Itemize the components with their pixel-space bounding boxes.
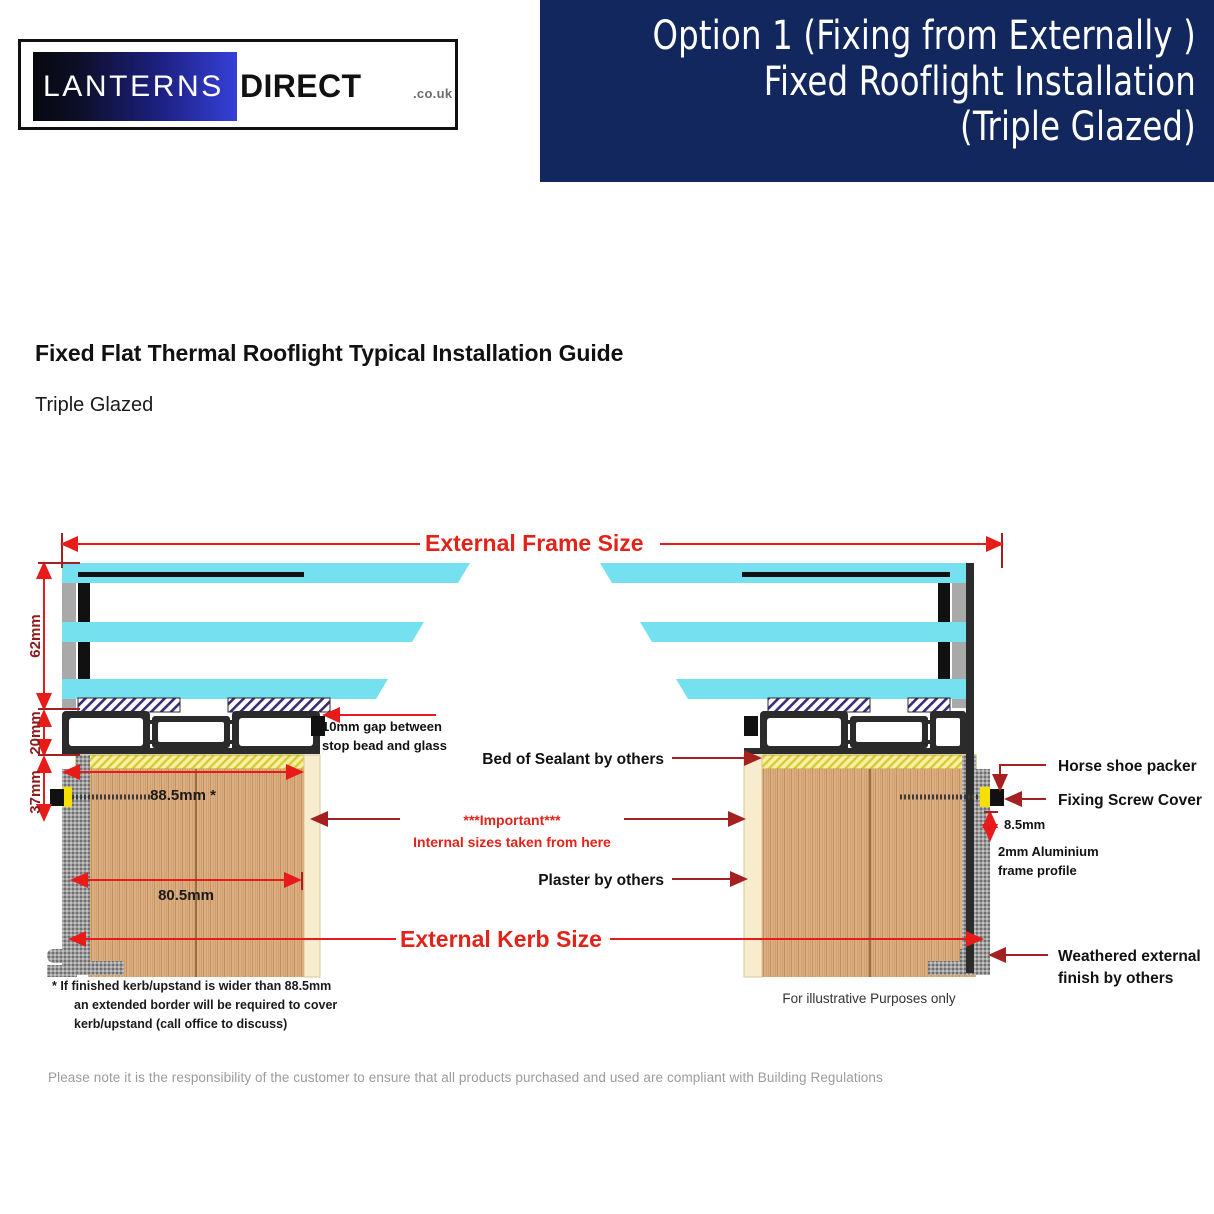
kerb-footnote-line-2: an extended border will be required to c…: [74, 998, 337, 1012]
label-bed-of-sealant: Bed of Sealant by others: [482, 751, 664, 768]
frame-outer-skin-right: [966, 563, 974, 973]
label-stop-bead-gap-line2: stop bead and glass: [322, 738, 447, 753]
label-stop-bead-gap-line1: 10mm gap between: [322, 719, 442, 734]
label-dim-20mm: 20mm: [27, 711, 44, 754]
horse-shoe-packer-right: [980, 787, 990, 807]
label-alu-profile-line2: frame profile: [998, 863, 1077, 878]
spacer-bar-left-2: [228, 698, 330, 712]
callout-bed-of-sealant: Bed of Sealant by others: [482, 751, 760, 768]
dimension-37mm: 37mm: [27, 757, 44, 820]
dimension-8-5mm: 8.5mm: [984, 812, 1045, 840]
glass-pane-middle-r: [640, 622, 966, 642]
kerb-footnote: * If finished kerb/upstand is wider than…: [52, 979, 337, 1031]
render-corner-right: [960, 949, 990, 963]
spacer-bar-right-1: [768, 698, 870, 712]
render-corner-left: [47, 949, 77, 963]
kerb-footnote-line-3: kerb/upstand (call office to discuss): [74, 1017, 287, 1031]
label-dim-88-5mm: 88.5mm *: [150, 787, 216, 804]
plaster-layer-left: [304, 755, 320, 977]
left-section-assembly: [47, 563, 470, 977]
glass-unit-left: [62, 563, 470, 699]
timber-kerb-right: [762, 769, 976, 977]
spacer-bar-right-2: [908, 698, 950, 712]
label-weathered-finish-line1: Weathered external: [1058, 948, 1201, 965]
label-horse-shoe-packer: Horse shoe packer: [1058, 758, 1197, 775]
kerb-footnote-line-1: * If finished kerb/upstand is wider than…: [52, 979, 331, 993]
glass-top-bar-r: [742, 572, 950, 577]
plaster-layer-right: [744, 755, 762, 977]
glass-pane-inner-r: [676, 679, 966, 699]
glass-unit-right: [600, 563, 966, 699]
callout-stop-bead-gap: 10mm gap between stop bead and glass: [322, 715, 447, 753]
glass-top-bar: [78, 572, 304, 577]
label-external-kerb-size: External Kerb Size: [400, 926, 602, 952]
aluminium-frame-profile-right: [744, 711, 966, 754]
label-dim-62mm: 62mm: [27, 614, 44, 657]
callout-aluminium-frame-profile: 2mm Aluminium frame profile: [998, 844, 1099, 878]
callout-weathered-external-finish: Weathered external finish by others: [990, 948, 1201, 987]
glass-pane-middle: [62, 622, 424, 642]
render-return-left: [47, 965, 77, 977]
label-dim-37mm: 37mm: [27, 770, 44, 813]
dimension-external-frame-size: External Frame Size: [62, 530, 1002, 568]
important-internal-sizes-note: ***Important*** Internal sizes taken fro…: [312, 812, 744, 850]
label-external-frame-size: External Frame Size: [425, 530, 644, 556]
label-alu-profile-line1: 2mm Aluminium: [998, 844, 1099, 859]
label-important-line1: ***Important***: [463, 812, 561, 828]
illustrative-purposes-note: For illustrative Purposes only: [782, 991, 956, 1006]
label-dim-8-5mm: 8.5mm: [1004, 817, 1045, 832]
stop-bead-gap-block-r: [744, 716, 758, 736]
aluminium-frame-profile-left: [62, 711, 320, 754]
spacer-bar-left-1: [78, 698, 180, 712]
callout-plaster: Plaster by others: [538, 872, 746, 889]
fixing-screw-cover-left: [50, 789, 64, 806]
label-plaster: Plaster by others: [538, 872, 664, 889]
label-weathered-finish-line2: finish by others: [1058, 970, 1173, 987]
callout-horse-shoe-packer: Horse shoe packer: [1000, 758, 1197, 790]
bed-of-sealant-right: [762, 755, 976, 769]
bed-of-sealant-left: [76, 755, 318, 769]
label-dim-80-5mm: 80.5mm: [158, 887, 214, 904]
callout-fixing-screw-cover: Fixing Screw Cover: [1006, 792, 1202, 809]
label-important-line2: Internal sizes taken from here: [413, 834, 611, 850]
label-fixing-screw-cover: Fixing Screw Cover: [1058, 792, 1202, 809]
right-section-assembly: [600, 563, 1004, 977]
installation-diagram: External Frame Size External Kerb Size 6…: [0, 0, 1214, 1214]
fixing-screw-cover-right: [990, 789, 1004, 806]
glass-pane-inner: [62, 679, 388, 699]
